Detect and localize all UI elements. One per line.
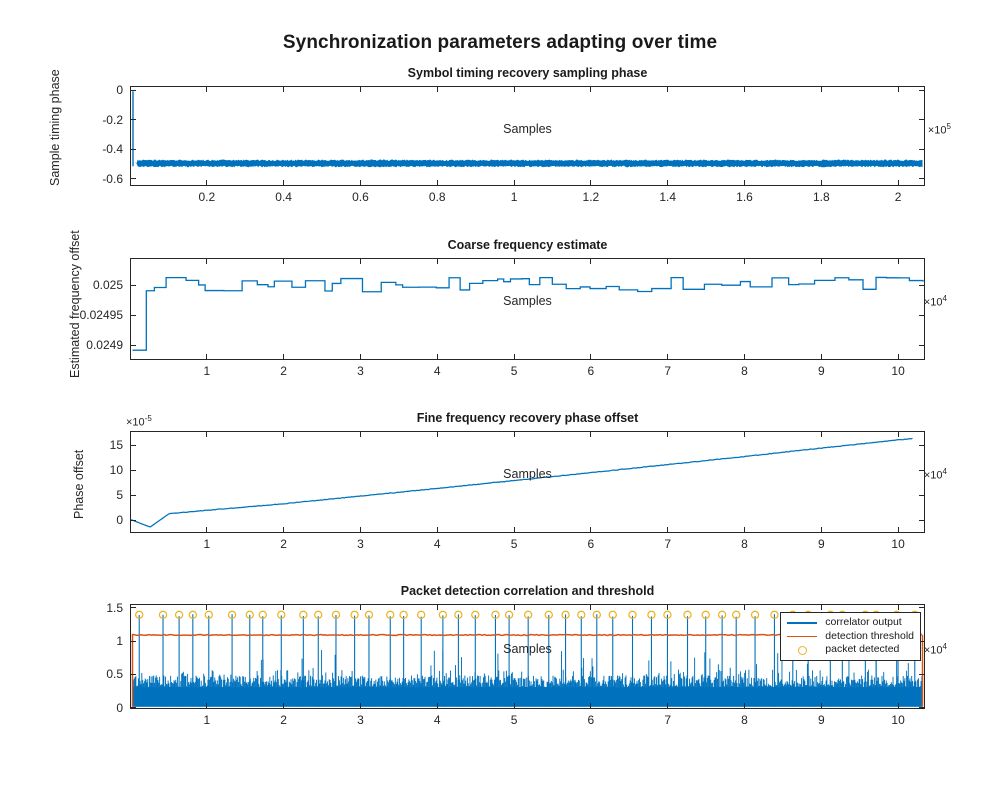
y-tick-label: 5 bbox=[116, 488, 123, 502]
y-tick-mark bbox=[130, 178, 136, 179]
x-tick-mark bbox=[283, 258, 284, 264]
y-tick-label: 0 bbox=[116, 83, 123, 97]
x-axis-label: Samples bbox=[130, 122, 925, 136]
x-tick-mark bbox=[821, 86, 822, 92]
x-tick-mark bbox=[898, 431, 899, 437]
x-tick-mark bbox=[898, 180, 899, 186]
y-tick-label: -0.6 bbox=[102, 172, 123, 186]
y-tick-mark bbox=[919, 315, 925, 316]
x-tick-mark bbox=[744, 604, 745, 610]
x-tick-mark bbox=[437, 180, 438, 186]
y-tick-mark bbox=[130, 607, 136, 608]
subplot-symbol-timing-recovery: Symbol timing recovery sampling phase Sa… bbox=[130, 86, 925, 186]
x-tick-mark bbox=[821, 258, 822, 264]
x-tick-label: 1.8 bbox=[813, 190, 830, 204]
x-tick-mark bbox=[283, 604, 284, 610]
legend-item-detection-threshold: detection threshold bbox=[785, 630, 914, 644]
x-axis-exponent: ×105 bbox=[928, 122, 951, 137]
x-tick-mark bbox=[821, 527, 822, 533]
x-tick-label: 6 bbox=[588, 537, 595, 551]
x-tick-mark bbox=[437, 703, 438, 709]
legend-circle-marker-icon bbox=[785, 643, 819, 656]
x-tick-mark bbox=[437, 604, 438, 610]
x-tick-label: 4 bbox=[434, 713, 441, 727]
matlab-figure: Synchronization parameters adapting over… bbox=[0, 0, 1000, 800]
x-tick-label: 2 bbox=[280, 364, 287, 378]
y-tick-label: -0.4 bbox=[102, 142, 123, 156]
plot-area bbox=[130, 86, 925, 186]
x-tick-mark bbox=[667, 604, 668, 610]
y-tick-mark bbox=[130, 149, 136, 150]
x-tick-mark bbox=[667, 431, 668, 437]
y-tick-label: 15 bbox=[110, 438, 123, 452]
x-tick-mark bbox=[667, 527, 668, 533]
x-tick-mark bbox=[437, 527, 438, 533]
x-tick-mark bbox=[206, 180, 207, 186]
x-tick-mark bbox=[514, 604, 515, 610]
y-tick-mark bbox=[130, 445, 136, 446]
y-tick-mark bbox=[919, 520, 925, 521]
legend-label: correlator output bbox=[825, 616, 901, 630]
y-tick-label: 1.5 bbox=[106, 601, 123, 615]
y-tick-mark bbox=[130, 315, 136, 316]
y-axis-label: Estimated frequency offset bbox=[68, 230, 82, 378]
x-axis-label: Samples bbox=[130, 467, 925, 481]
y-tick-mark bbox=[130, 345, 136, 346]
x-axis-exponent: ×104 bbox=[924, 467, 947, 482]
x-tick-mark bbox=[206, 527, 207, 533]
x-tick-mark bbox=[360, 354, 361, 360]
x-tick-mark bbox=[898, 703, 899, 709]
legend-label: packet detected bbox=[825, 643, 899, 657]
x-tick-label: 10 bbox=[891, 713, 904, 727]
phase-offset-trace bbox=[131, 432, 924, 532]
x-tick-mark bbox=[590, 604, 591, 610]
x-tick-mark bbox=[590, 86, 591, 92]
subplot-title: Coarse frequency estimate bbox=[130, 238, 925, 252]
x-tick-label: 3 bbox=[357, 537, 364, 551]
y-tick-mark bbox=[919, 285, 925, 286]
x-tick-mark bbox=[283, 86, 284, 92]
x-tick-mark bbox=[206, 258, 207, 264]
y-tick-mark bbox=[919, 470, 925, 471]
subplot-fine-frequency-phase-offset: Fine frequency recovery phase offset Pha… bbox=[130, 431, 925, 533]
x-tick-label: 1.6 bbox=[736, 190, 753, 204]
x-tick-mark bbox=[667, 703, 668, 709]
timing-phase-trace bbox=[131, 87, 924, 185]
x-tick-mark bbox=[821, 354, 822, 360]
x-tick-label: 1 bbox=[203, 364, 210, 378]
legend: correlator output detection threshold pa… bbox=[780, 612, 921, 661]
x-tick-mark bbox=[437, 431, 438, 437]
y-axis-label: Phase offset bbox=[72, 450, 86, 519]
subplot-coarse-frequency-estimate: Coarse frequency estimate Estimated freq… bbox=[130, 258, 925, 360]
x-tick-label: 2 bbox=[280, 537, 287, 551]
y-tick-mark bbox=[130, 707, 136, 708]
x-tick-mark bbox=[514, 527, 515, 533]
y-tick-label: 10 bbox=[110, 463, 123, 477]
x-tick-mark bbox=[667, 86, 668, 92]
x-tick-label: 8 bbox=[741, 364, 748, 378]
x-tick-label: 2 bbox=[895, 190, 902, 204]
x-tick-label: 0.2 bbox=[198, 190, 215, 204]
subplot-packet-detection: Packet detection correlation and thresho… bbox=[130, 604, 925, 709]
x-tick-mark bbox=[514, 703, 515, 709]
x-tick-mark bbox=[744, 180, 745, 186]
x-tick-label: 0.8 bbox=[429, 190, 446, 204]
x-tick-label: 5 bbox=[511, 364, 518, 378]
x-tick-mark bbox=[360, 527, 361, 533]
x-tick-label: 9 bbox=[818, 537, 825, 551]
x-tick-mark bbox=[590, 703, 591, 709]
y-tick-mark bbox=[130, 520, 136, 521]
x-tick-mark bbox=[590, 258, 591, 264]
x-tick-label: 9 bbox=[818, 713, 825, 727]
x-tick-label: 8 bbox=[741, 713, 748, 727]
legend-item-packet-detected: packet detected bbox=[785, 643, 914, 657]
x-tick-mark bbox=[744, 527, 745, 533]
x-tick-label: 0.4 bbox=[275, 190, 292, 204]
x-tick-mark bbox=[283, 431, 284, 437]
x-tick-mark bbox=[360, 703, 361, 709]
y-tick-label: 0 bbox=[116, 701, 123, 715]
x-tick-mark bbox=[360, 431, 361, 437]
x-tick-mark bbox=[283, 354, 284, 360]
x-tick-label: 4 bbox=[434, 537, 441, 551]
x-tick-label: 10 bbox=[891, 537, 904, 551]
x-tick-mark bbox=[744, 354, 745, 360]
x-tick-label: 1 bbox=[203, 537, 210, 551]
plot-area bbox=[130, 431, 925, 533]
x-tick-mark bbox=[898, 258, 899, 264]
x-tick-label: 5 bbox=[511, 713, 518, 727]
x-tick-mark bbox=[821, 604, 822, 610]
x-tick-label: 2 bbox=[280, 713, 287, 727]
x-tick-mark bbox=[821, 703, 822, 709]
x-tick-label: 7 bbox=[664, 364, 671, 378]
x-tick-mark bbox=[514, 180, 515, 186]
subplot-title: Packet detection correlation and thresho… bbox=[130, 584, 925, 598]
x-tick-mark bbox=[360, 258, 361, 264]
x-tick-mark bbox=[744, 703, 745, 709]
x-tick-label: 1.2 bbox=[583, 190, 600, 204]
x-tick-mark bbox=[360, 604, 361, 610]
y-tick-label: 0.02495 bbox=[80, 308, 123, 322]
x-tick-label: 7 bbox=[664, 537, 671, 551]
y-tick-label: 1 bbox=[116, 634, 123, 648]
x-tick-mark bbox=[437, 86, 438, 92]
y-tick-mark bbox=[130, 119, 136, 120]
x-tick-mark bbox=[590, 180, 591, 186]
x-tick-mark bbox=[437, 258, 438, 264]
x-tick-label: 3 bbox=[357, 713, 364, 727]
x-tick-mark bbox=[283, 527, 284, 533]
figure-title: Synchronization parameters adapting over… bbox=[0, 32, 1000, 54]
y-tick-mark bbox=[919, 149, 925, 150]
x-tick-mark bbox=[590, 431, 591, 437]
x-axis-exponent: ×104 bbox=[924, 294, 947, 309]
x-tick-mark bbox=[744, 431, 745, 437]
legend-line-icon bbox=[785, 630, 819, 643]
y-tick-mark bbox=[919, 445, 925, 446]
x-tick-label: 6 bbox=[588, 364, 595, 378]
x-tick-mark bbox=[437, 354, 438, 360]
y-axis-label: Sample timing phase bbox=[48, 69, 62, 186]
x-axis-label: Samples bbox=[130, 294, 925, 308]
x-tick-label: 9 bbox=[818, 364, 825, 378]
subplot-title: Symbol timing recovery sampling phase bbox=[130, 66, 925, 80]
x-tick-label: 5 bbox=[511, 537, 518, 551]
y-tick-mark bbox=[919, 674, 925, 675]
y-tick-label: 0.025 bbox=[93, 278, 123, 292]
y-tick-mark bbox=[919, 90, 925, 91]
y-tick-mark bbox=[919, 607, 925, 608]
subplot-title: Fine frequency recovery phase offset bbox=[130, 411, 925, 425]
y-tick-mark bbox=[130, 470, 136, 471]
plot-area bbox=[130, 258, 925, 360]
y-tick-label: 0.5 bbox=[106, 667, 123, 681]
x-tick-mark bbox=[898, 86, 899, 92]
x-axis-exponent: ×104 bbox=[924, 642, 947, 657]
y-tick-mark bbox=[130, 285, 136, 286]
x-tick-label: 0.6 bbox=[352, 190, 369, 204]
x-tick-mark bbox=[667, 180, 668, 186]
y-tick-mark bbox=[919, 178, 925, 179]
legend-label: detection threshold bbox=[825, 630, 914, 644]
x-tick-mark bbox=[514, 258, 515, 264]
y-tick-label: -0.2 bbox=[102, 113, 123, 127]
x-tick-mark bbox=[514, 86, 515, 92]
x-tick-mark bbox=[667, 354, 668, 360]
x-tick-mark bbox=[898, 604, 899, 610]
x-tick-mark bbox=[590, 527, 591, 533]
coarse-frequency-trace bbox=[131, 259, 924, 359]
y-tick-mark bbox=[130, 90, 136, 91]
x-tick-mark bbox=[360, 180, 361, 186]
y-tick-mark bbox=[130, 495, 136, 496]
x-tick-mark bbox=[283, 180, 284, 186]
x-tick-mark bbox=[283, 703, 284, 709]
x-tick-mark bbox=[821, 180, 822, 186]
x-tick-mark bbox=[898, 527, 899, 533]
x-tick-mark bbox=[744, 258, 745, 264]
x-tick-label: 6 bbox=[588, 713, 595, 727]
y-tick-mark bbox=[130, 674, 136, 675]
x-tick-mark bbox=[206, 86, 207, 92]
x-tick-label: 1.4 bbox=[659, 190, 676, 204]
x-tick-mark bbox=[360, 86, 361, 92]
x-tick-label: 7 bbox=[664, 713, 671, 727]
x-tick-label: 1 bbox=[203, 713, 210, 727]
y-axis-exponent: ×10-5 bbox=[126, 414, 152, 429]
x-tick-mark bbox=[821, 431, 822, 437]
x-tick-mark bbox=[206, 431, 207, 437]
y-tick-label: 0.0249 bbox=[86, 338, 123, 352]
x-tick-mark bbox=[206, 604, 207, 610]
x-tick-label: 1 bbox=[511, 190, 518, 204]
x-tick-mark bbox=[744, 86, 745, 92]
y-tick-mark bbox=[919, 707, 925, 708]
x-tick-label: 4 bbox=[434, 364, 441, 378]
x-tick-mark bbox=[514, 431, 515, 437]
x-tick-mark bbox=[514, 354, 515, 360]
y-tick-mark bbox=[919, 495, 925, 496]
y-tick-mark bbox=[919, 345, 925, 346]
x-tick-label: 3 bbox=[357, 364, 364, 378]
legend-line-icon bbox=[785, 616, 819, 629]
x-tick-mark bbox=[206, 354, 207, 360]
x-tick-mark bbox=[898, 354, 899, 360]
x-tick-mark bbox=[667, 258, 668, 264]
x-tick-label: 8 bbox=[741, 537, 748, 551]
y-tick-label: 0 bbox=[116, 513, 123, 527]
legend-item-correlator-output: correlator output bbox=[785, 616, 914, 630]
x-tick-label: 10 bbox=[891, 364, 904, 378]
x-tick-mark bbox=[590, 354, 591, 360]
y-tick-mark bbox=[130, 641, 136, 642]
x-tick-mark bbox=[206, 703, 207, 709]
y-tick-mark bbox=[919, 119, 925, 120]
